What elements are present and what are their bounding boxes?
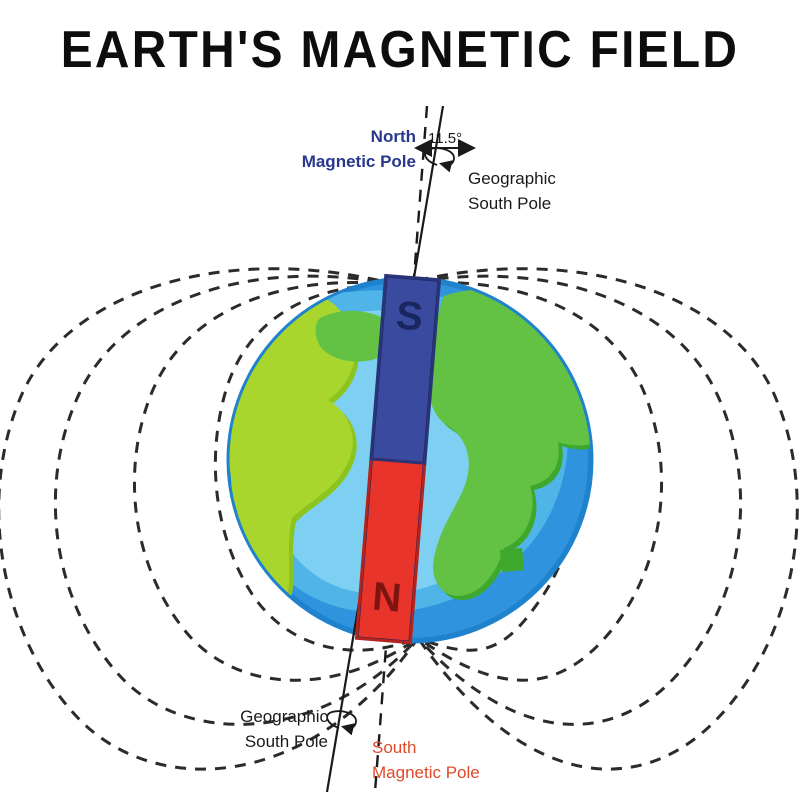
magnet-north-letter: N: [371, 575, 403, 621]
label-geographic-south-pole-bottom-line2: South Pole: [0, 729, 328, 754]
label-geographic-south-pole-bottom: Geographic South Pole: [0, 704, 328, 754]
label-north-magnetic-pole: North Magnetic Pole: [0, 124, 416, 174]
magnet-south-letter: S: [394, 293, 424, 339]
diagram-canvas: EARTH'S MAGNETIC FIELD: [0, 0, 800, 812]
label-geographic-south-pole-top-line1: Geographic: [468, 166, 556, 191]
label-geographic-south-pole-bottom-line1: Geographic: [0, 704, 328, 729]
label-geographic-south-pole-top-line2: South Pole: [468, 191, 556, 216]
label-south-magnetic-pole-line2: Magnetic Pole: [372, 760, 480, 785]
label-tilt-angle: 11.5°: [428, 126, 462, 151]
label-south-magnetic-pole-line1: South: [372, 735, 480, 760]
label-north-magnetic-pole-line1: North: [0, 124, 416, 149]
continent-australia-dot: [500, 548, 524, 572]
label-north-magnetic-pole-line2: Magnetic Pole: [0, 149, 416, 174]
earth-magnetic-field-illustration: S N: [0, 0, 800, 812]
label-south-magnetic-pole: South Magnetic Pole: [372, 735, 480, 785]
label-geographic-south-pole-top: Geographic South Pole: [468, 166, 556, 216]
